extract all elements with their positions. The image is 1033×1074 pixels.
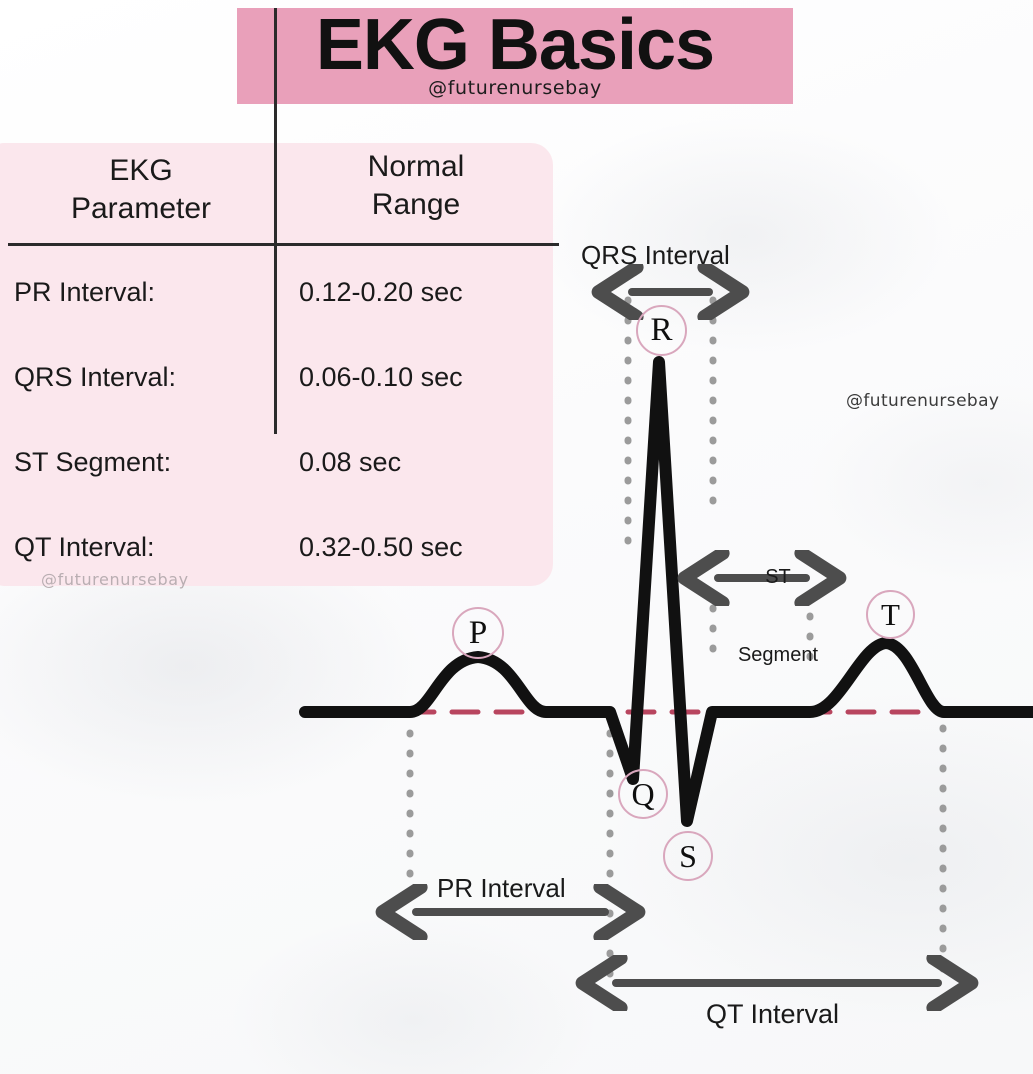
wave-label-t: T [866, 590, 915, 639]
ekg-waveform-diagram [0, 0, 1033, 1074]
wave-label-r: R [636, 305, 687, 356]
annotation-qrs-interval: QRS Interval [581, 240, 730, 271]
annotation-st-segment: ST Segment [728, 512, 828, 720]
annotation-pr-interval: PR Interval [437, 873, 566, 904]
ekg-trace [305, 362, 1033, 821]
wave-label-p: P [452, 607, 504, 659]
wave-label-q: Q [618, 769, 668, 819]
annotation-qt-interval: QT Interval [706, 999, 839, 1030]
annotation-st-segment-line1: ST [728, 564, 828, 590]
infographic-canvas: EKG Basics @futurenursebay EKG Parameter… [0, 0, 1033, 1074]
wave-label-s: S [663, 831, 713, 881]
annotation-st-segment-line2: Segment [728, 642, 828, 668]
